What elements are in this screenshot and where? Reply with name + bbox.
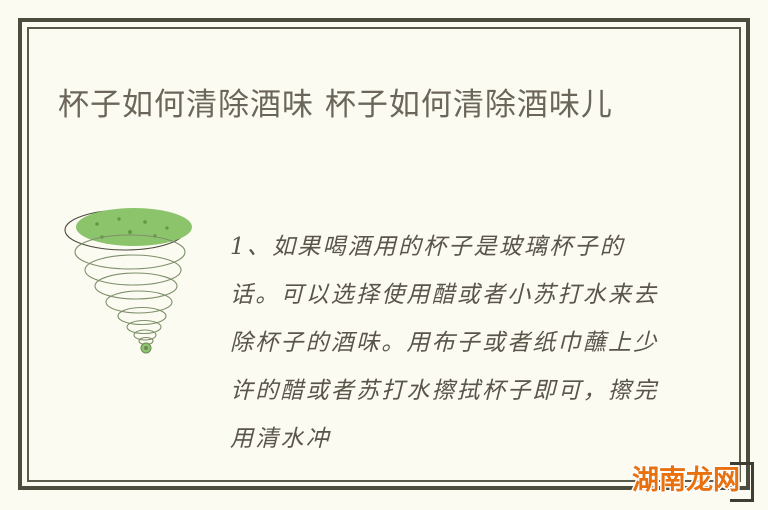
article-body-text: 1、如果喝酒用的杯子是玻璃杯子的话。可以选择使用醋或者小苏打水来去除杯子的酒味。… <box>230 223 662 463</box>
page-title: 杯子如何清除酒味 杯子如何清除酒味儿 <box>58 81 668 129</box>
green-tornado-illustration <box>57 198 207 363</box>
watermark-bracket-bottom-icon <box>730 488 754 502</box>
site-watermark: 湖南龙网 <box>628 460 760 504</box>
article-page: 杯子如何清除酒味 杯子如何清除酒味儿 <box>0 0 768 510</box>
watermark-label: 湖南龙网 <box>632 466 740 496</box>
